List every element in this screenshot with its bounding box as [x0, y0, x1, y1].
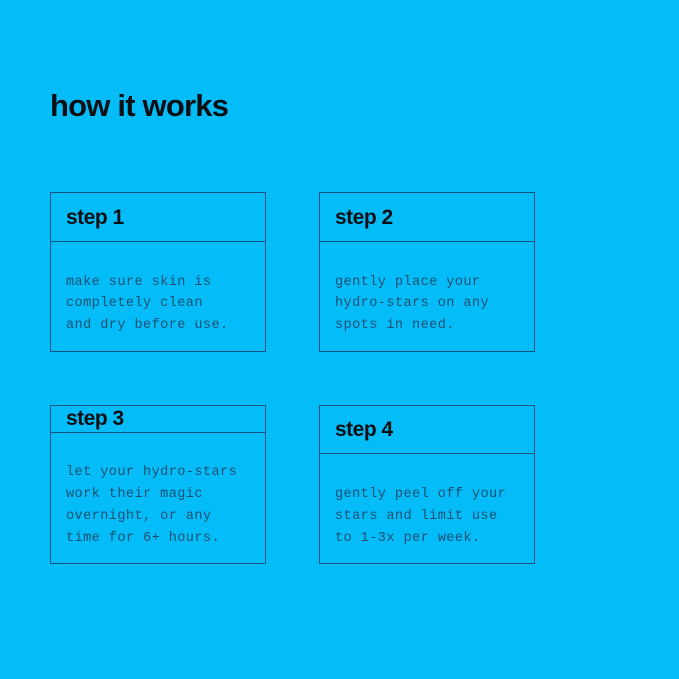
step-card-2-header-label: step 2: [335, 207, 393, 228]
step-card-1-body: make sure skin is completely clean and d…: [51, 242, 265, 351]
step-card-4-header: step 4: [320, 406, 534, 454]
step-card-4-header-label: step 4: [335, 419, 393, 440]
step-card-4: step 4 gently peel off your stars and li…: [319, 405, 535, 564]
step-card-1-body-text: make sure skin is completely clean and d…: [66, 272, 255, 337]
step-card-1-header: step 1: [51, 193, 265, 242]
step-card-2-body: gently place your hydro-stars on any spo…: [320, 242, 534, 351]
steps-grid: step 1 make sure skin is completely clea…: [50, 192, 535, 564]
step-card-4-body-text: gently peel off your stars and limit use…: [335, 484, 524, 549]
step-card-3-body-text: let your hydro-stars work their magic ov…: [66, 462, 255, 549]
step-card-3-header-label: step 3: [66, 408, 124, 429]
step-card-3: step 3 let your hydro-stars work their m…: [50, 405, 266, 564]
steps-row-top: step 1 make sure skin is completely clea…: [50, 192, 535, 352]
steps-row-bottom: step 3 let your hydro-stars work their m…: [50, 405, 535, 564]
step-card-1-header-label: step 1: [66, 207, 124, 228]
how-it-works-section: how it works step 1 make sure skin is co…: [0, 0, 679, 679]
step-card-1: step 1 make sure skin is completely clea…: [50, 192, 266, 352]
step-card-2: step 2 gently place your hydro-stars on …: [319, 192, 535, 352]
step-card-2-header: step 2: [320, 193, 534, 242]
step-card-3-body: let your hydro-stars work their magic ov…: [51, 433, 265, 563]
step-card-2-body-text: gently place your hydro-stars on any spo…: [335, 272, 524, 337]
step-card-3-header: step 3: [51, 406, 265, 433]
page-title: how it works: [50, 87, 228, 124]
step-card-4-body: gently peel off your stars and limit use…: [320, 454, 534, 563]
